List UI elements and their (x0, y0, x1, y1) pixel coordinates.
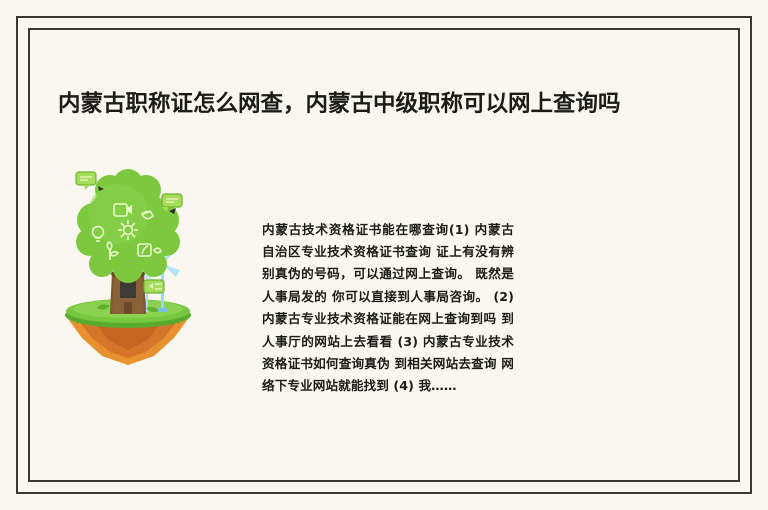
page-title: 内蒙古职称证怎么网查，内蒙古中级职称可以网上查询吗 (58, 91, 718, 118)
content-area: 内蒙古职称证怎么网查，内蒙古中级职称可以网上查询吗 (28, 28, 740, 482)
page-root: 内蒙古职称证怎么网查，内蒙古中级职称可以网上查询吗 (0, 0, 768, 510)
eco-tree-island-illustration (58, 168, 198, 368)
speech-bubble-icon (76, 172, 96, 190)
recycle-badge-icon (144, 280, 164, 293)
article-body-text: 内蒙古技术资格证书能在哪查询(1) 内蒙古自治区专业技术资格证书查询 证上有没有… (262, 219, 514, 398)
